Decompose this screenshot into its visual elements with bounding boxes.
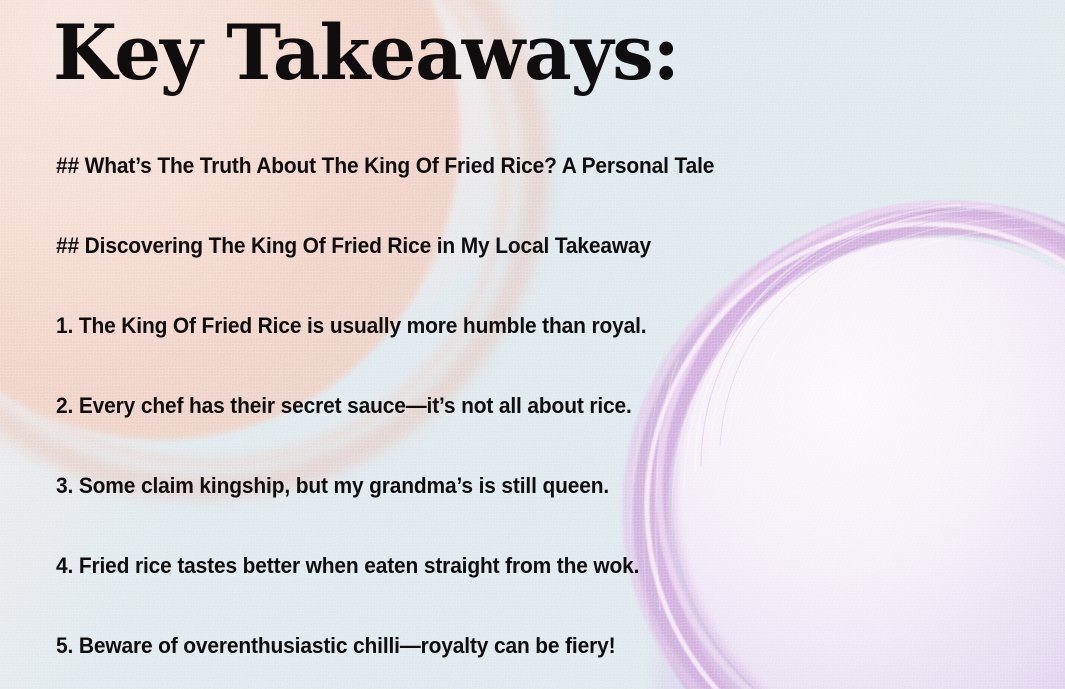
list-item: 1. The King Of Fried Rice is usually mor…: [56, 313, 949, 393]
list-item: 2. Every chef has their secret sauce—it’…: [56, 393, 949, 473]
list-item: ## What’s The Truth About The King Of Fr…: [56, 153, 949, 233]
list-item: ## Discovering The King Of Fried Rice in…: [56, 233, 949, 313]
list-item: 3. Some claim kingship, but my grandma’s…: [56, 473, 949, 553]
list-item: 5. Beware of overenthusiastic chilli—roy…: [56, 633, 949, 689]
takeaways-list: ## What’s The Truth About The King Of Fr…: [56, 153, 1016, 689]
page-title: Key Takeaways:: [53, 15, 679, 91]
slide-canvas: Key Takeaways: ## What’s The Truth About…: [0, 0, 1065, 689]
list-item: 4. Fried rice tastes better when eaten s…: [56, 553, 949, 633]
slide-content: Key Takeaways: ## What’s The Truth About…: [0, 0, 1065, 689]
